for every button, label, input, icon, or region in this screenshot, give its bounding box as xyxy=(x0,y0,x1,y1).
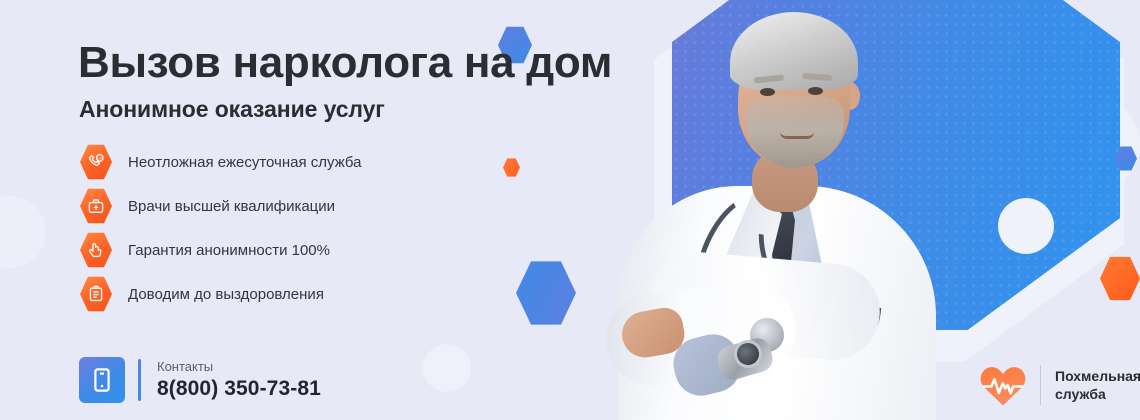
clipboard-checklist-icon xyxy=(80,276,112,312)
list-item-label: Доводим до выздоровления xyxy=(128,286,324,303)
contacts-text: Контакты 8(800) 350-73-81 xyxy=(157,359,321,401)
contacts-phone-number[interactable]: 8(800) 350-73-81 xyxy=(157,377,321,401)
promo-banner: Вызов нарколога на дом Анонимное оказани… xyxy=(0,0,1140,420)
contacts-label: Контакты xyxy=(157,359,321,374)
logo-text: Похмельная служба xyxy=(1055,367,1140,404)
list-item: Гарантия анонимности 100% xyxy=(80,231,361,269)
medical-bag-icon xyxy=(80,188,112,224)
decorative-hexagon-blue-medium xyxy=(516,260,576,326)
doctor-portrait xyxy=(612,0,942,420)
doctor-eye-right xyxy=(808,87,823,95)
brand-logo[interactable]: Похмельная служба xyxy=(978,362,1140,408)
list-item-label: Неотложная ежесуточная служба xyxy=(128,154,361,171)
decorative-hexagon-orange-small xyxy=(503,158,520,177)
list-item: Врачи высшей квалификации xyxy=(80,187,361,225)
doctor-hair xyxy=(730,12,858,90)
page-title: Вызов нарколога на дом xyxy=(78,38,612,88)
page-subtitle: Анонимное оказание услуг xyxy=(79,96,385,123)
phone-24h-icon: 24 xyxy=(80,144,112,180)
doctor-eye-left xyxy=(760,88,775,96)
doctor-mouth xyxy=(780,132,814,139)
decorative-hexagon-orange-right xyxy=(1100,256,1140,301)
contacts-divider xyxy=(138,359,141,401)
heart-pulse-icon xyxy=(978,362,1028,408)
secret-hand-icon xyxy=(80,232,112,268)
list-item: Доводим до выздоровления xyxy=(80,275,361,313)
logo-text-line2: служба xyxy=(1055,385,1140,403)
mobile-phone-icon xyxy=(79,357,125,403)
list-item: 24 Неотложная ежесуточная служба xyxy=(80,143,361,181)
logo-divider xyxy=(1040,365,1041,405)
feature-list: 24 Неотложная ежесуточная служба Врачи в… xyxy=(80,143,361,319)
decorative-circle-left-edge xyxy=(0,196,46,268)
list-item-label: Врачи высшей квалификации xyxy=(128,198,335,215)
contacts-block[interactable]: Контакты 8(800) 350-73-81 xyxy=(79,357,321,403)
list-item-label: Гарантия анонимности 100% xyxy=(128,242,330,259)
svg-text:24: 24 xyxy=(98,156,102,160)
logo-text-line1: Похмельная xyxy=(1055,367,1140,385)
decorative-circle-on-blob xyxy=(998,198,1054,254)
decorative-circle-center xyxy=(423,344,471,392)
